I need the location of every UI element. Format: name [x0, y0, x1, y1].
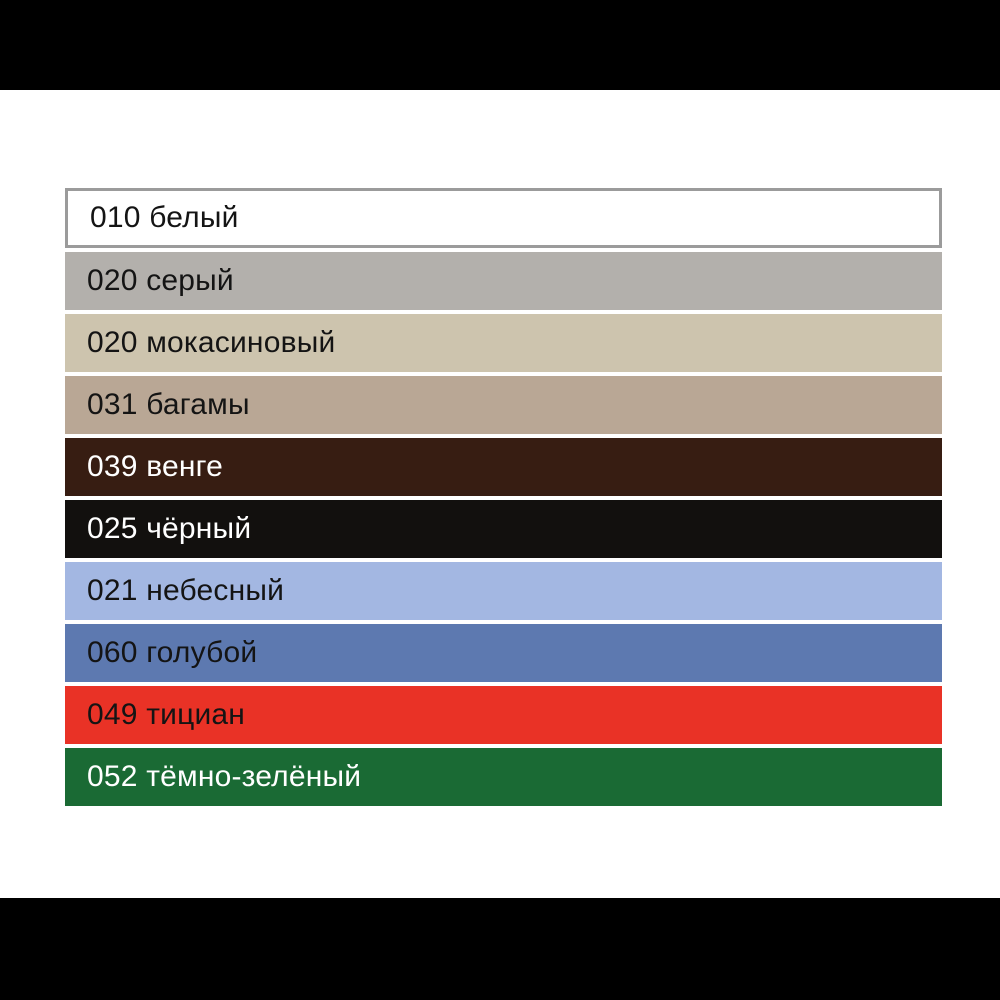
color-swatch-label: 025 чёрный [87, 514, 251, 544]
letterbox-bar-bottom [0, 898, 1000, 1000]
color-swatch-label: 052 тёмно-зелёный [87, 762, 361, 792]
color-swatch-row[interactable]: 039 венге [65, 438, 942, 496]
color-swatch-row[interactable]: 020 мокасиновый [65, 314, 942, 372]
color-swatch-label: 020 мокасиновый [87, 328, 335, 358]
color-swatch-label: 049 тициан [87, 700, 245, 730]
color-swatch-row[interactable]: 052 тёмно-зелёный [65, 748, 942, 806]
color-swatch-label: 020 серый [87, 266, 234, 296]
color-palette-page: 010 белый020 серый020 мокасиновый031 баг… [0, 0, 1000, 1000]
color-swatch-row[interactable]: 020 серый [65, 252, 942, 310]
color-swatch-row[interactable]: 060 голубой [65, 624, 942, 682]
color-swatch-label: 010 белый [90, 203, 239, 233]
color-swatch-list: 010 белый020 серый020 мокасиновый031 баг… [65, 188, 942, 806]
color-swatch-row[interactable]: 049 тициан [65, 686, 942, 744]
letterbox-bar-top [0, 0, 1000, 90]
color-swatch-row[interactable]: 025 чёрный [65, 500, 942, 558]
color-swatch-label: 039 венге [87, 452, 223, 482]
color-swatch-label: 021 небесный [87, 576, 284, 606]
color-swatch-label: 031 багамы [87, 390, 250, 420]
color-swatch-row[interactable]: 031 багамы [65, 376, 942, 434]
color-swatch-label: 060 голубой [87, 638, 257, 668]
color-swatch-row[interactable]: 010 белый [65, 188, 942, 248]
color-swatch-row[interactable]: 021 небесный [65, 562, 942, 620]
